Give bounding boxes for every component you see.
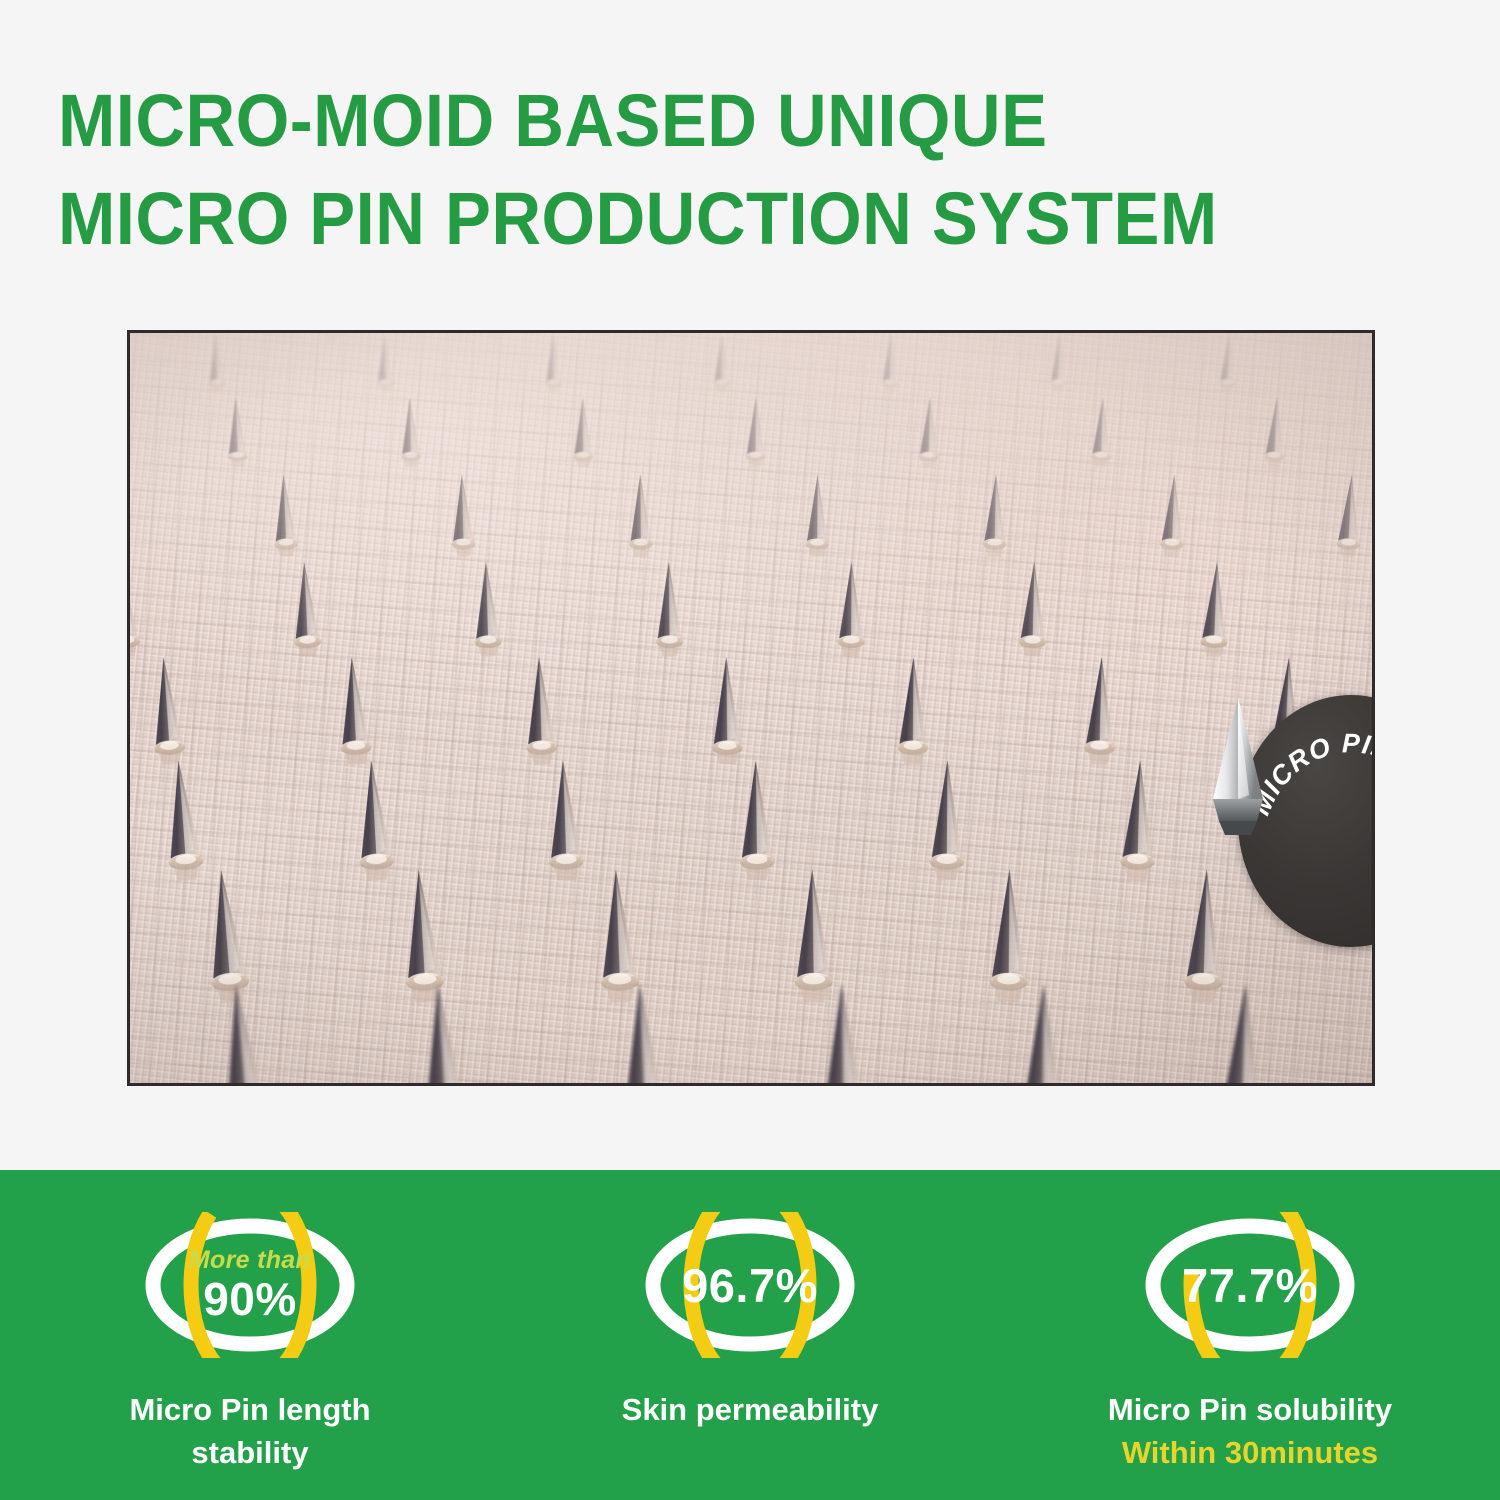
micrograph-image <box>130 333 1372 1083</box>
ring-prefix-1: More than <box>189 1248 311 1273</box>
stats-panel: More than 90% Micro Pin length stability… <box>0 1170 1500 1500</box>
ring-value-3: 77.7% <box>1182 1262 1318 1309</box>
progress-ring-1: More than 90% <box>139 1212 361 1358</box>
page-title-line-1: MICRO-MOID BASED UNIQUE <box>58 72 1341 170</box>
stat-label-2-line1: Skin permeability <box>622 1388 879 1431</box>
ring-text-2: 96.7% <box>639 1212 861 1358</box>
stat-label-1: Micro Pin length stability <box>129 1388 370 1474</box>
page-title: MICRO-MOID BASED UNIQUE MICRO PIN PRODUC… <box>58 72 1438 268</box>
ring-text-1: More than 90% <box>139 1212 361 1358</box>
stat-sublabel-3: Within 30minutes <box>1108 1431 1392 1474</box>
stat-label-3: Micro Pin solubility Within 30minutes <box>1108 1388 1392 1474</box>
page-title-line-2: MICRO PIN PRODUCTION SYSTEM <box>58 170 1341 268</box>
ring-text-3: 77.7% <box>1139 1212 1361 1358</box>
stat-label-3-line1: Micro Pin solubility <box>1108 1388 1392 1431</box>
badge-needle-icon <box>1201 695 1275 835</box>
progress-ring-2: 96.7% <box>639 1212 861 1358</box>
ring-value-1: 90% <box>203 1276 297 1322</box>
stat-label-1-line2: stability <box>129 1431 370 1474</box>
stat-label-2: Skin permeability <box>622 1388 879 1431</box>
ring-value-2: 96.7% <box>682 1262 818 1309</box>
stat-card-2: 96.7% Skin permeability <box>500 1170 1000 1431</box>
micro-pin-badge: MICRO PIN 200EA <box>1238 695 1375 947</box>
stat-label-1-line1: Micro Pin length <box>129 1388 370 1431</box>
micrograph-panel: MICRO PIN 200EA <box>127 330 1375 1086</box>
progress-ring-3: 77.7% <box>1139 1212 1361 1358</box>
stat-card-1: More than 90% Micro Pin length stability <box>0 1170 500 1474</box>
stat-card-3: 77.7% Micro Pin solubility Within 30minu… <box>1000 1170 1500 1474</box>
micrograph-vignette <box>130 333 1372 1083</box>
